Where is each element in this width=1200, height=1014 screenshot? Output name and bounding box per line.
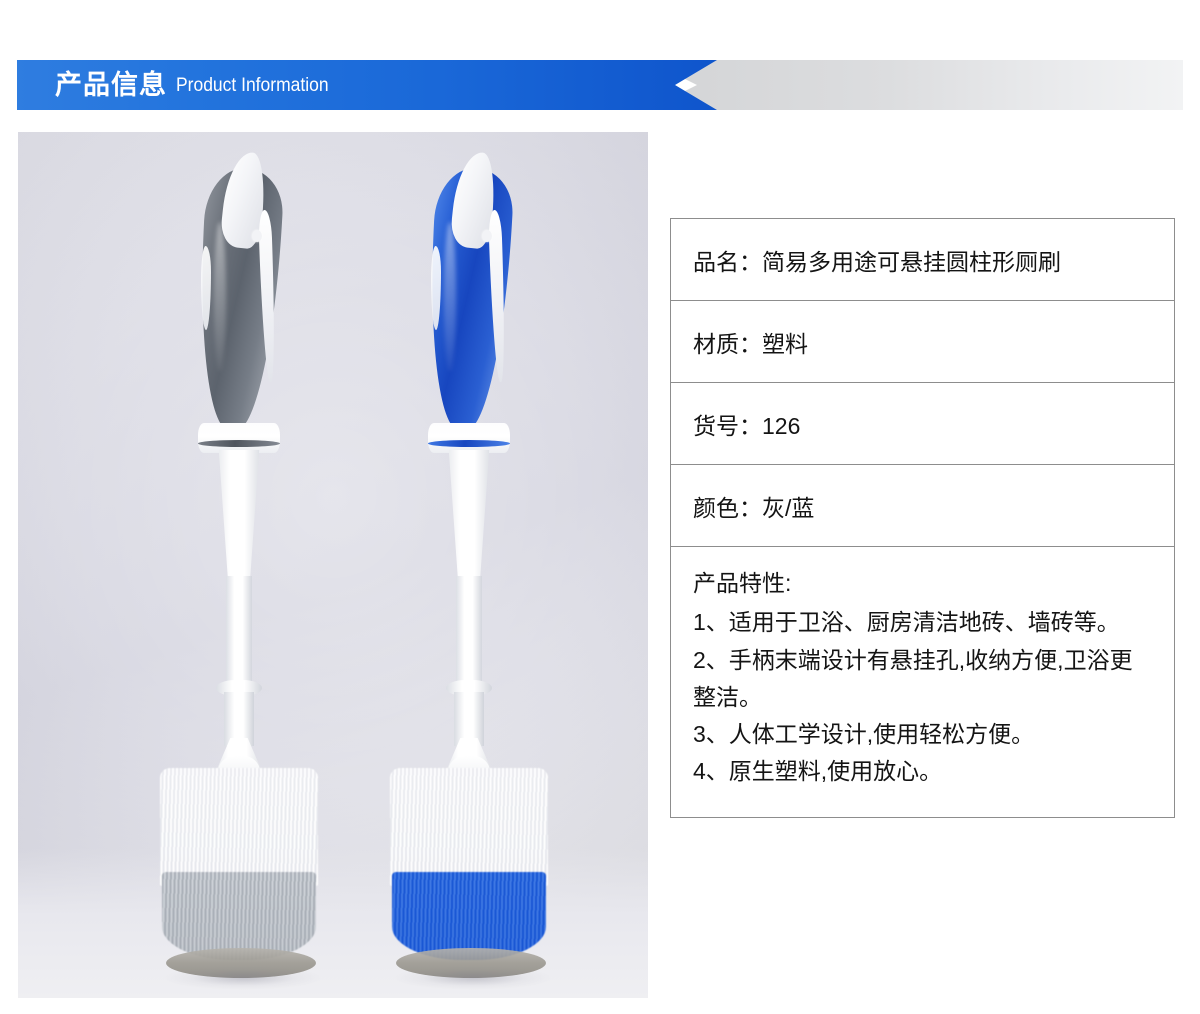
- collar-white-band: [198, 423, 280, 453]
- handle-gloss: [444, 222, 456, 372]
- banner-gray-tail: [647, 60, 1183, 110]
- feature-item-2: 2、手柄末端设计有悬挂孔,收纳方便,卫浴更整洁。: [693, 642, 1152, 717]
- collar-color-ring: [198, 440, 280, 447]
- table-row-features: 产品特性: 1、适用于卫浴、厨房清洁地砖、墙砖等。 2、手柄末端设计有悬挂孔,收…: [671, 547, 1174, 818]
- brush-head-blue: [390, 768, 548, 964]
- brush-stem-upper: [446, 450, 492, 580]
- brush-stem-upper: [216, 450, 262, 580]
- hanging-hole-icon: [482, 230, 492, 242]
- handle-collar: [198, 423, 280, 453]
- page-header-banner: 产品信息 Product Information: [17, 60, 1183, 110]
- handle-collar: [428, 423, 510, 453]
- bristles-white: [160, 768, 318, 886]
- brush-stem-lower: [456, 576, 482, 688]
- table-row-product-name: 品名：简易多用途可悬挂圆柱形厕刷: [671, 219, 1174, 301]
- feature-item-1: 1、适用于卫浴、厨房清洁地砖、墙砖等。: [693, 604, 1152, 641]
- bristles-gray: [162, 872, 316, 960]
- brush-stem-neck: [454, 692, 484, 746]
- brush-stem-neck: [224, 692, 254, 746]
- page-title-en: Product Information: [176, 76, 329, 95]
- table-row-color: 颜色：灰/蓝: [671, 465, 1174, 547]
- brush-shadow: [164, 966, 322, 990]
- features-title: 产品特性:: [693, 565, 1152, 602]
- table-row-material: 材质：塑料: [671, 301, 1174, 383]
- product-image-gray-brush: [138, 168, 368, 980]
- brush-shadow: [394, 966, 552, 990]
- bristles-blue: [392, 872, 546, 960]
- brush-handle-blue: [430, 168, 508, 430]
- bristles-white: [390, 768, 548, 886]
- page-title-cn: 产品信息: [55, 72, 167, 99]
- brush-stem-lower: [226, 576, 252, 688]
- product-photo: [18, 132, 648, 998]
- banner-title-group: 产品信息 Product Information: [55, 60, 342, 110]
- feature-item-3: 3、人体工学设计,使用轻松方便。: [693, 716, 1152, 753]
- brush-handle-gray: [200, 168, 278, 430]
- table-row-item-number: 货号：126: [671, 383, 1174, 465]
- product-info-table: 品名：简易多用途可悬挂圆柱形厕刷 材质：塑料 货号：126 颜色：灰/蓝 产品特…: [670, 218, 1175, 818]
- feature-item-4: 4、原生塑料,使用放心。: [693, 753, 1152, 790]
- hanging-hole-icon: [252, 230, 262, 242]
- collar-color-ring: [428, 440, 510, 447]
- brush-head-gray: [160, 768, 318, 964]
- product-image-blue-brush: [368, 168, 598, 980]
- collar-white-band: [428, 423, 510, 453]
- handle-gloss: [214, 222, 226, 372]
